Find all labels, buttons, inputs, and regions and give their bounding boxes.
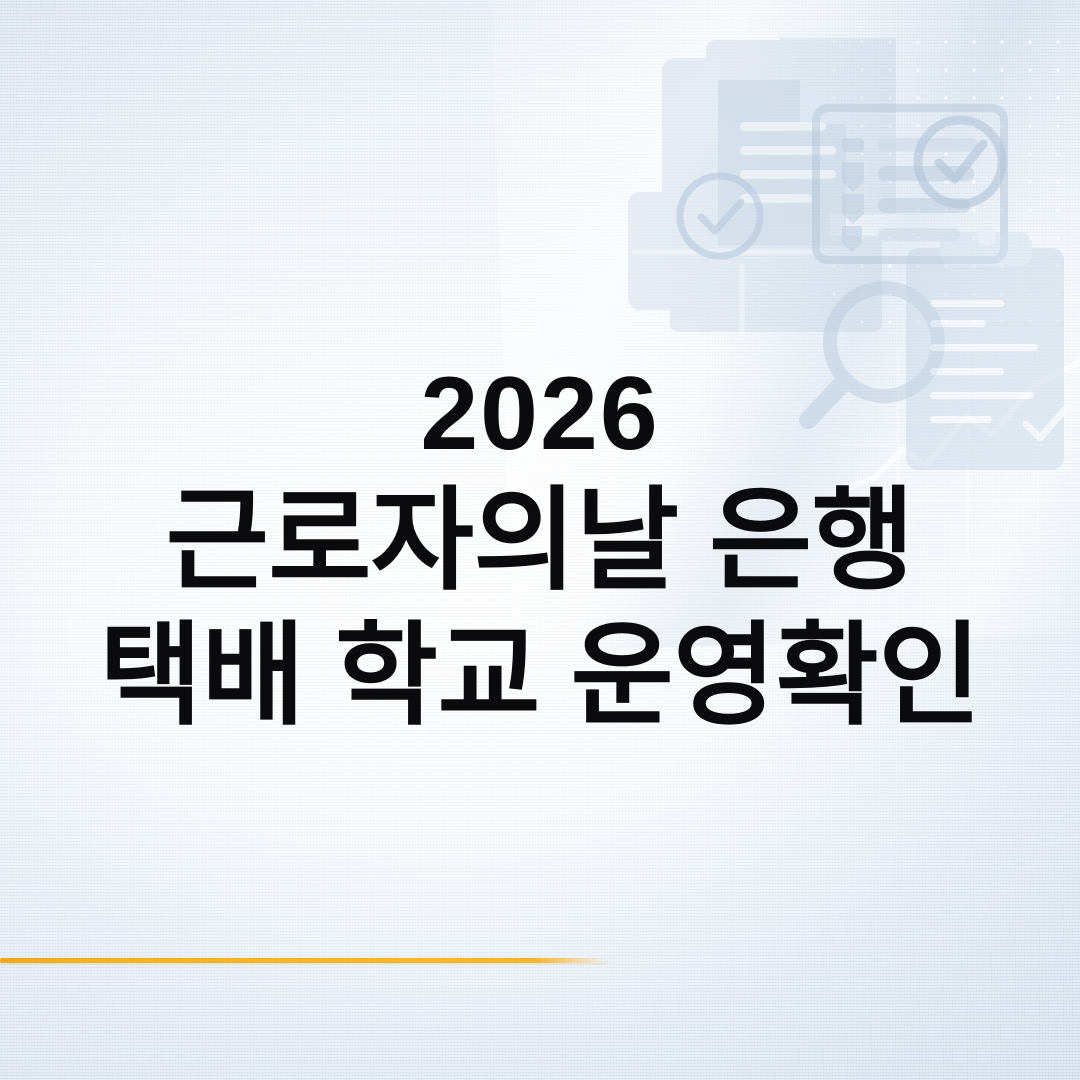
title-block: 2026 근로자의날 은행 택배 학교 운영확인 [0, 362, 1080, 735]
thumbnail-card: 2026 근로자의날 은행 택배 학교 운영확인 [0, 0, 1080, 1080]
dot-grid-pattern [820, 28, 1080, 328]
title-line-2: 근로자의날 은행 [24, 482, 1056, 601]
accent-divider-rule [0, 958, 607, 963]
title-line-3: 택배 학교 운영확인 [24, 617, 1056, 736]
title-line-1: 2026 [24, 362, 1056, 466]
